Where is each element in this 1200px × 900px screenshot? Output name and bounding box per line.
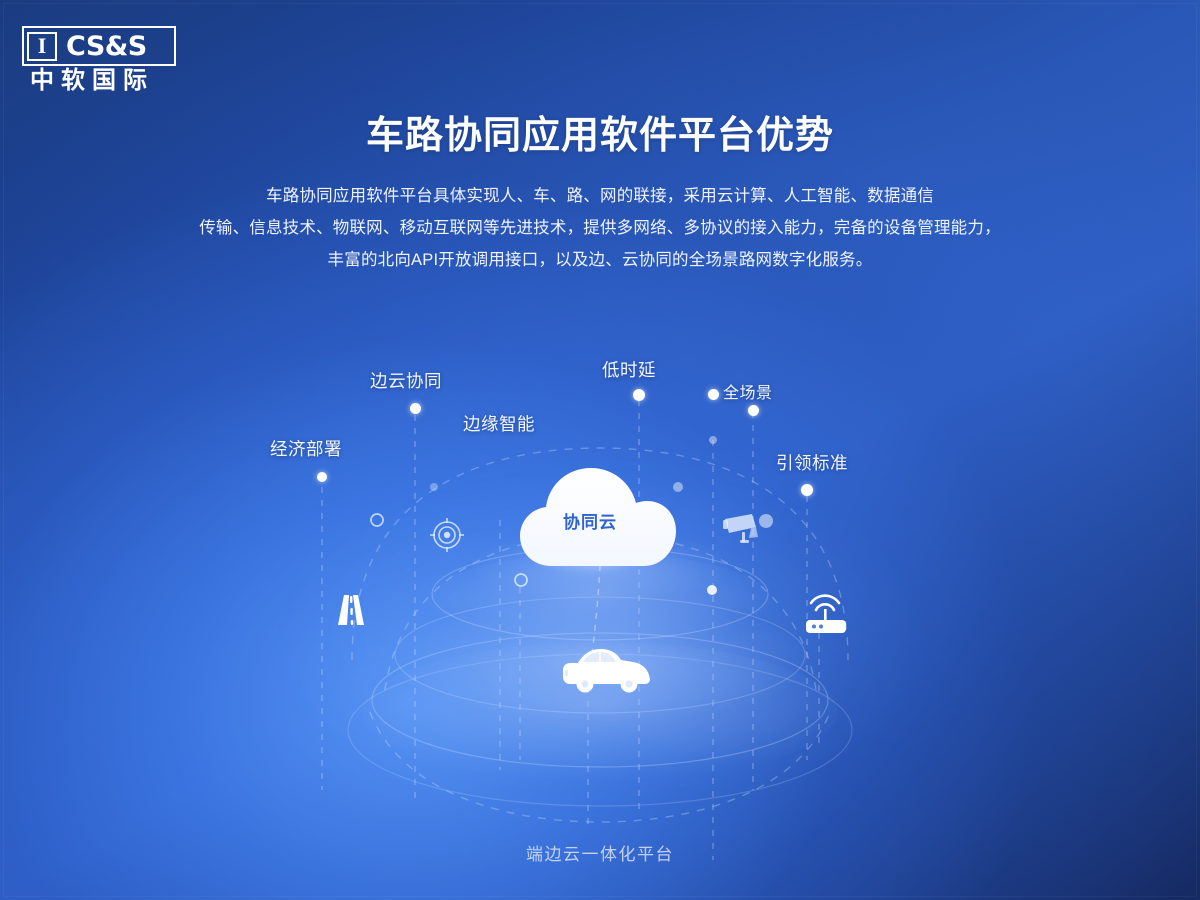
advantage-label-low-latency: 低时延	[602, 357, 656, 382]
accent-dot-right	[707, 585, 717, 595]
node-dot-low-latency	[708, 389, 719, 400]
accent-dot-arc	[673, 482, 683, 492]
advantage-label-leading-standard: 引领标准	[776, 450, 848, 475]
center-node-label: 协同云	[545, 508, 635, 533]
advantage-label-all-scenario: 全场景	[723, 379, 773, 403]
platform-caption: 端边云一体化平台	[0, 840, 1200, 865]
node-dot-edge-intelligence	[633, 389, 645, 401]
slide-canvas: I CS&S 中软国际 车路协同应用软件平台优势 车路协同应用软件平台具体实现人…	[0, 0, 1200, 900]
node-dot-all-scenario	[748, 405, 759, 416]
node-dot-economic-deployment	[317, 472, 327, 482]
advantage-label-edge-cloud-collaboration: 边云协同	[370, 368, 442, 393]
node-dot-edge-cloud-collaboration	[410, 403, 421, 414]
accent-dot-arc-left	[430, 483, 438, 491]
diagram-vector-layer	[0, 0, 1200, 900]
advantage-label-economic-deployment: 经济部署	[270, 436, 342, 461]
accent-dot-camera	[759, 514, 773, 528]
node-dot-leading-standard	[801, 484, 813, 496]
node-dot-aux-dim	[709, 436, 717, 444]
architecture-diagram: 经济部署 边云协同 边缘智能 低时延 全场景 引领标准 协同云 端边云一体化平台	[0, 0, 1200, 900]
advantage-label-edge-intelligence: 边缘智能	[463, 411, 535, 436]
